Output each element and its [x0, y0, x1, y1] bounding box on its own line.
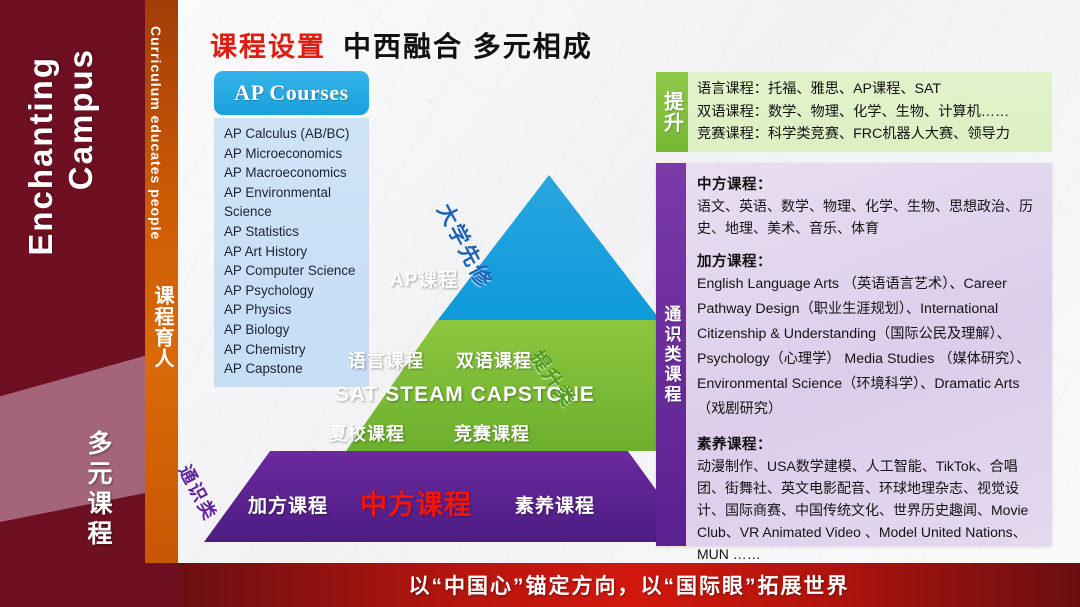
section-body: 语文、英语、数学、物理、化学、生物、思想政治、历史、地理、美术、音乐、体育: [697, 195, 1044, 239]
banner-left-filler: [0, 563, 178, 607]
enhancement-line: 语言课程：托福、雅思、AP课程、SAT: [697, 78, 1052, 101]
enhancement-line: 双语课程：数学、物理、化学、生物、计算机……: [697, 101, 1052, 124]
ap-course-item: AP Biology: [224, 320, 369, 340]
enhancement-line: 竞赛课程：科学类竞赛、FRC机器人大赛、领导力: [697, 123, 1052, 146]
ap-course-item: Science: [224, 202, 369, 222]
enhancement-panel-tab: 提升: [656, 72, 688, 152]
general-education-panel-tab-label: 通识类课程: [659, 305, 684, 405]
main-canvas: 课程设置 中西融合 多元相成 AP Courses AP Calculus (A…: [178, 0, 1080, 563]
brand-line-enchanting: Enchanting: [22, 56, 60, 256]
ap-courses-header: AP Courses: [214, 71, 369, 115]
bottom-banner: 以“中国心”锚定方向，以“国际眼”拓展世界: [178, 563, 1080, 607]
ap-course-item: AP Art History: [224, 242, 369, 262]
ap-course-item: AP Psychology: [224, 281, 369, 301]
pyramid-tier-top: [437, 175, 661, 321]
pyramid-mid-label-summer: 夏校课程: [329, 420, 405, 446]
pyramid-mid-label-bilingual: 双语课程: [456, 347, 532, 373]
section-spacer: [697, 239, 1044, 250]
general-education-panel-body: 中方课程：语文、英语、数学、物理、化学、生物、思想政治、历史、地理、美术、音乐、…: [686, 163, 1052, 546]
pyramid-mid-side-label: 提升类: [525, 345, 583, 412]
ap-courses-body: AP Calculus (AB/BC)AP MicroeconomicsAP M…: [214, 118, 369, 387]
ap-courses-list: AP Calculus (AB/BC)AP MicroeconomicsAP M…: [224, 124, 369, 379]
ap-courses-title: AP Courses: [234, 80, 348, 106]
section-heading: 素养课程：: [697, 433, 1044, 454]
left-rail-cn-label: 多元课程: [80, 430, 116, 550]
pyramid-mid-label-exams: SAT STEAM CAPSTONE: [335, 383, 595, 407]
pyramid-mid-label-competition: 竞赛课程: [454, 420, 530, 446]
pyramid-top-label: AP课程: [390, 265, 458, 292]
section-heading: 中方课程：: [697, 173, 1044, 194]
ap-course-item: AP Computer Science: [224, 261, 369, 281]
section-heading: 加方课程：: [697, 250, 1044, 271]
page-title-red: 课程设置: [210, 25, 326, 64]
enhancement-panel: 提升 语言课程：托福、雅思、AP课程、SAT双语课程：数学、物理、化学、生物、计…: [656, 72, 1052, 152]
ap-course-item: AP Physics: [224, 300, 369, 320]
orange-rail-cn-label: 课程育人: [148, 285, 177, 369]
ap-course-item: AP Microeconomics: [224, 144, 369, 164]
brand-line-campus: Campus: [62, 48, 100, 190]
bottom-banner-text: 以“中国心”锚定方向，以“国际眼”拓展世界: [409, 570, 850, 600]
general-education-panel-tab: 通识类课程: [656, 163, 686, 546]
pyramid-bottom-label-chinese: 中方课程: [360, 483, 472, 522]
ap-course-item: AP Calculus (AB/BC): [224, 124, 369, 144]
ap-course-item: AP Environmental: [224, 183, 369, 203]
decorative-diagonal-band: [0, 330, 145, 530]
section-spacer: [697, 422, 1044, 433]
general-education-panel: 通识类课程 中方课程：语文、英语、数学、物理、化学、生物、思想政治、历史、地理、…: [656, 163, 1052, 546]
enhancement-panel-body: 语言课程：托福、雅思、AP课程、SAT双语课程：数学、物理、化学、生物、计算机……: [688, 72, 1052, 152]
pyramid-bottom-label-canadian: 加方课程: [248, 491, 328, 518]
pyramid-tier-bottom: [204, 451, 694, 542]
orange-rail: Curriculum educates people 课程育人: [145, 0, 178, 607]
section-body: English Language Arts （英语语言艺术）、Career Pa…: [697, 272, 1044, 422]
ap-course-item: AP Capstone: [224, 359, 369, 379]
ap-course-item: AP Macroeconomics: [224, 163, 369, 183]
left-red-rail: Enchanting Campus 多元课程: [0, 0, 145, 607]
ap-course-item: AP Chemistry: [224, 340, 369, 360]
enhancement-panel-tab-label: 提升: [658, 91, 687, 133]
slide-root: Enchanting Campus 多元课程 Curriculum educat…: [0, 0, 1080, 607]
ap-course-item: AP Statistics: [224, 222, 369, 242]
pyramid-bottom-label-literacy: 素养课程: [515, 491, 595, 518]
section-body: 动漫制作、USA数学建模、人工智能、TikTok、合唱团、街舞社、英文电影配音、…: [697, 455, 1044, 563]
pyramid-bottom-side-label: 通识类: [178, 460, 224, 525]
ap-courses-card: AP Courses AP Calculus (AB/BC)AP Microec…: [214, 71, 369, 387]
orange-rail-en-label: Curriculum educates people: [148, 26, 164, 240]
page-subtitle-black: 中西融合 多元相成: [343, 25, 593, 65]
pyramid-top-side-label: 大学先修: [431, 198, 501, 293]
